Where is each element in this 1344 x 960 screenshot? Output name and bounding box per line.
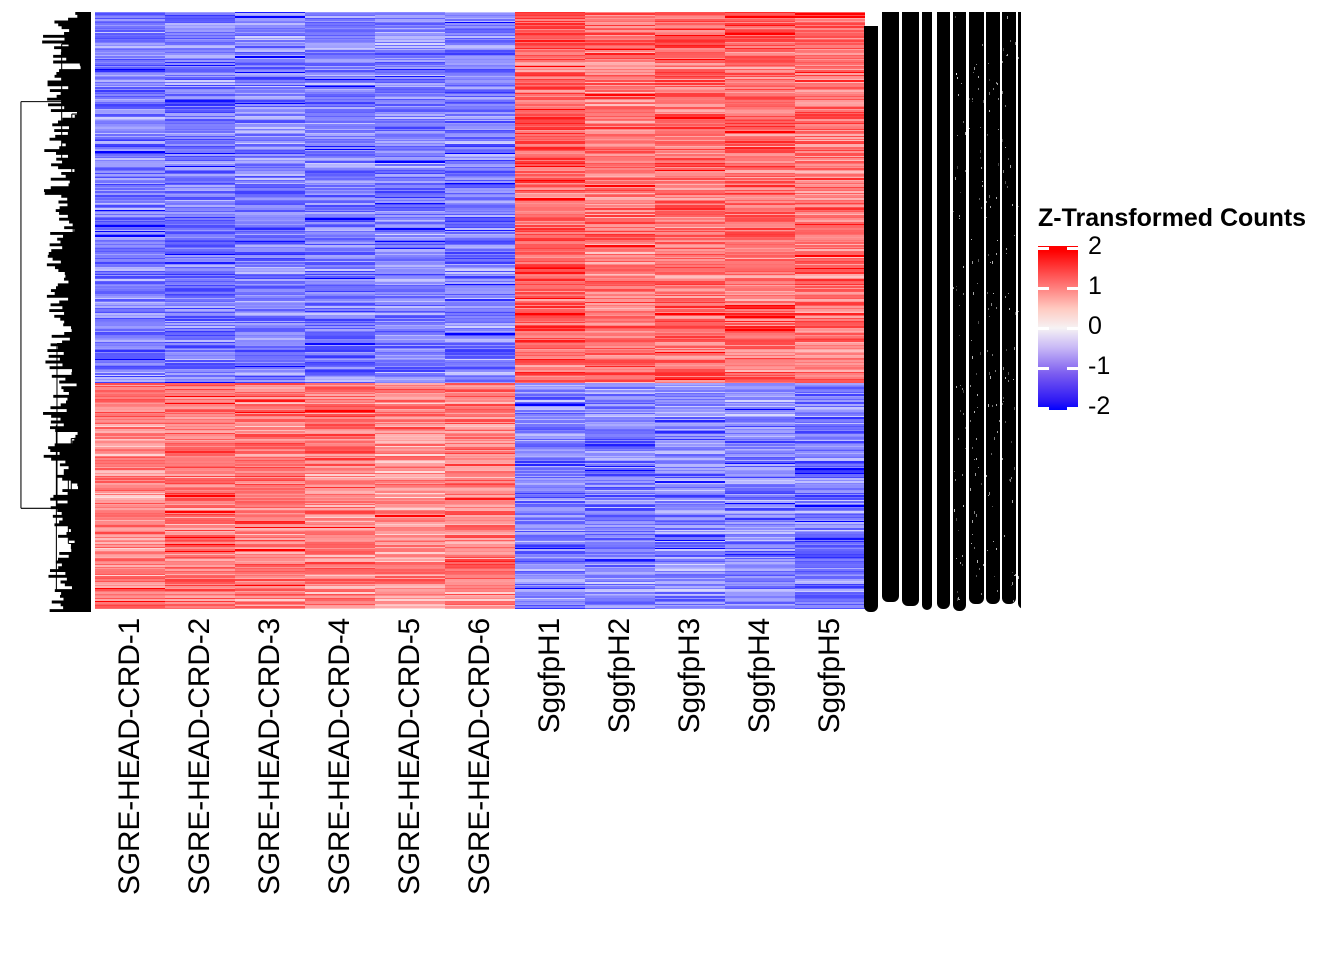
column-axis-labels: SGRE-HEAD-CRD-1SGRE-HEAD-CRD-2SGRE-HEAD-…	[95, 614, 865, 944]
column-label-text: SGRE-HEAD-CRD-2	[183, 618, 217, 895]
row-labels-block	[864, 12, 1021, 612]
colorbar-tick-label: 1	[1088, 274, 1102, 299]
column-label-6: SGRE-HEAD-CRD-6	[445, 614, 515, 944]
legend: Z-Transformed Counts 210-1-2	[1036, 204, 1336, 419]
column-label-11: SggfpH5	[795, 614, 865, 944]
heatmap-column	[235, 12, 305, 612]
column-label-text: SGRE-HEAD-CRD-4	[323, 618, 357, 895]
heatmap-matrix	[95, 12, 865, 612]
colorbar-tick-mark	[1038, 287, 1049, 290]
row-label-column	[902, 12, 919, 606]
column-label-5: SGRE-HEAD-CRD-5	[375, 614, 445, 944]
column-label-7: SggfpH1	[515, 614, 585, 944]
row-label-column	[937, 12, 950, 609]
colorbar-tick-label: 0	[1088, 314, 1102, 339]
heatmap-column	[375, 12, 445, 612]
column-label-text: SggfpH3	[673, 618, 707, 733]
column-label-10: SggfpH4	[725, 614, 795, 944]
heatmap-column	[725, 12, 795, 612]
column-label-text: SggfpH2	[603, 618, 637, 733]
row-label-column	[882, 12, 899, 602]
colorbar-tick-mark	[1067, 407, 1078, 410]
colorbar-tick-mark	[1067, 367, 1078, 370]
heatmap-column	[95, 12, 165, 612]
colorbar-tick-label: 2	[1088, 234, 1102, 259]
column-label-2: SGRE-HEAD-CRD-2	[165, 614, 235, 944]
column-label-9: SggfpH3	[655, 614, 725, 944]
row-label-column	[1018, 12, 1021, 609]
colorbar-tick-mark	[1038, 367, 1049, 370]
colorbar-tick-mark	[1038, 407, 1049, 410]
row-label-column	[986, 12, 1000, 604]
column-label-1: SGRE-HEAD-CRD-1	[95, 614, 165, 944]
heatmap-column	[445, 12, 515, 612]
column-label-4: SGRE-HEAD-CRD-4	[305, 614, 375, 944]
colorbar-tick-mark	[1038, 247, 1049, 250]
colorbar-tick-mark	[1067, 247, 1078, 250]
heatmap-column	[165, 12, 235, 612]
colorbar-tick-label: -1	[1088, 354, 1110, 379]
row-label-column	[1002, 12, 1016, 604]
heatmap-column	[795, 12, 865, 612]
dendrogram-leaf-mass	[42, 13, 91, 610]
row-label-column	[953, 12, 966, 611]
colorbar-tick-label: -2	[1088, 394, 1110, 419]
colorbar-tick-mark	[1067, 287, 1078, 290]
heatmap-column	[305, 12, 375, 612]
column-label-text: SGRE-HEAD-CRD-3	[253, 618, 287, 895]
heatmap-column	[585, 12, 655, 612]
column-label-8: SggfpH2	[585, 614, 655, 944]
heatmap-column	[655, 12, 725, 612]
heatmap-column	[515, 12, 585, 612]
row-label-column	[922, 12, 932, 610]
heatmap-figure: SGRE-HEAD-CRD-1SGRE-HEAD-CRD-2SGRE-HEAD-…	[0, 0, 1344, 960]
dendrogram-svg	[8, 12, 92, 612]
column-label-3: SGRE-HEAD-CRD-3	[235, 614, 305, 944]
column-label-text: SGRE-HEAD-CRD-5	[393, 618, 427, 895]
row-label-column	[969, 12, 984, 604]
legend-title: Z-Transformed Counts	[1038, 204, 1306, 233]
row-dendrogram	[8, 12, 92, 612]
colorbar-tick-mark	[1038, 327, 1049, 330]
column-label-text: SGRE-HEAD-CRD-1	[113, 618, 147, 895]
colorbar-tick-mark	[1067, 327, 1078, 330]
row-label-column	[864, 26, 878, 612]
column-label-text: SGRE-HEAD-CRD-6	[463, 618, 497, 895]
column-label-text: SggfpH4	[743, 618, 777, 733]
colorbar: 210-1-2	[1038, 246, 1078, 410]
column-label-text: SggfpH1	[533, 618, 567, 733]
column-label-text: SggfpH5	[813, 618, 847, 733]
